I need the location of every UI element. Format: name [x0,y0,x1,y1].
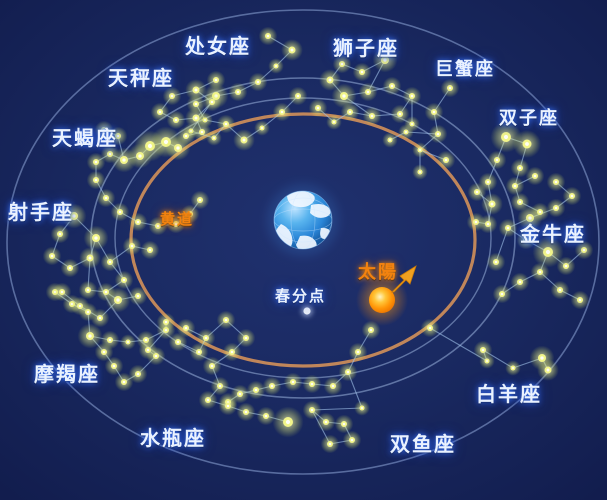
star-core [205,337,208,340]
constellation-label-libra: 天秤座 [108,62,174,91]
star-core [257,81,260,84]
star-core [429,327,432,330]
constellation-label-scorpius: 天蝎座 [52,122,118,151]
star-core [237,91,240,94]
star-core [357,351,360,354]
star-core [411,123,413,125]
star-core [571,195,574,198]
star-core [547,369,550,372]
star-core [507,227,510,230]
star-core [311,383,314,386]
star-core [175,119,178,122]
star-core [292,381,295,384]
star-core [149,249,152,252]
star-core [329,79,332,82]
star-core [195,89,198,92]
star-core [225,319,228,322]
star-core [311,409,314,412]
star-core [195,103,198,106]
constellation-label-aquarius: 水瓶座 [140,422,206,451]
star-core [449,87,452,90]
star-core [433,111,436,114]
star-core [69,267,72,270]
star-core [347,371,350,374]
star-core [99,317,102,320]
star-core [370,329,373,332]
star-core [271,385,274,388]
ecliptic-label: 黄道 [160,208,194,229]
star-core [555,181,558,184]
star-core [79,305,82,308]
star-core [389,139,391,141]
star-core [325,421,328,424]
star-core [411,95,414,98]
star-core [113,365,116,368]
star-core [137,295,140,298]
star-core [419,149,421,151]
star-core [349,111,352,114]
star-core [367,91,370,94]
star-core [419,171,421,173]
star-core [445,159,448,162]
star-core [281,111,284,114]
star-core [519,201,522,204]
star-core [51,255,54,258]
star-core [157,225,160,228]
star-core [137,221,140,224]
star-core [201,131,204,134]
star-core [291,49,294,52]
star-core [405,131,407,133]
star-core [207,399,210,402]
star-core [539,271,542,274]
constellation-label-aries: 白羊座 [476,378,542,407]
star-core [219,385,222,388]
star-core [534,175,537,178]
star-core [138,154,141,157]
star-core [137,373,140,376]
star-core [475,221,478,224]
star-core [519,167,522,170]
star-core [361,71,364,74]
star-core [123,279,126,282]
star-core [297,95,300,98]
star-core [583,249,586,252]
star-core [95,161,98,164]
star-core [275,65,277,67]
star-core [317,107,320,110]
star-core [119,211,122,214]
star-core [486,360,488,362]
star-core [512,367,514,369]
star-core [105,291,108,294]
star-core [476,191,479,194]
star-core [127,341,129,343]
star-core [227,405,230,408]
star-core [332,385,335,388]
star-core [87,289,90,292]
star-core [245,411,248,414]
star-core [487,181,490,184]
star-core [245,337,248,340]
star-core [177,341,180,344]
equinox-label: 春分点 [275,285,326,306]
star-core [351,439,354,442]
star-core [579,299,582,302]
star-core [116,298,119,301]
star-core [159,111,162,114]
star-core [371,115,374,118]
constellation-label-gemini: 双子座 [499,104,559,130]
star-core [286,420,290,424]
star-core [487,223,490,226]
zodiac-diagram: 处女座 狮子座 巨蟹座 双子座 金牛座 白羊座 双鱼座 水瓶座 摩羯座 射手座 … [0,0,607,500]
star-core [361,407,363,409]
star-core [88,334,91,337]
constellation-label-capricornus: 摩羯座 [34,358,100,387]
star-core [261,127,263,129]
star-core [391,85,394,88]
star-core [109,261,112,264]
star-core [525,142,529,146]
star-core [185,135,188,138]
star-core [243,139,246,142]
star-core [341,63,344,66]
star-core [147,349,150,352]
star-core [501,293,504,296]
star-core [491,203,494,206]
star-core [215,79,218,82]
star-core [546,250,550,254]
earth-globe [267,184,339,256]
star-core [122,158,125,161]
star-core [239,393,242,396]
star-core [565,265,568,268]
star-core [165,321,168,324]
star-core [195,117,198,120]
constellation-label-pisces: 双鱼座 [390,428,456,457]
star-core [109,153,112,156]
star-core [267,35,270,38]
star-core [540,356,543,359]
star-core [171,95,174,98]
constellation-label-leo: 狮子座 [333,32,399,61]
constellation-label-cancer: 巨蟹座 [435,55,495,81]
star-core [555,207,558,210]
star-core [255,389,258,392]
star-core [482,349,485,352]
star-core [329,443,332,446]
star-core [231,351,234,354]
star-core [123,381,126,384]
sun-label: 太陽 [358,258,398,284]
star-core [185,327,188,330]
star-core [514,185,517,188]
star-core [213,137,215,139]
star-core [437,133,440,136]
star-core [176,146,179,149]
star-core [399,113,402,116]
star-core [61,291,64,294]
equinox-marker [301,305,313,317]
sky-canvas [0,0,607,500]
constellation-label-sagittarius: 射手座 [8,196,74,225]
star-core [95,179,98,182]
star-core [495,261,498,264]
star-core [265,415,268,418]
star-core [131,245,134,248]
star-core [199,199,202,202]
constellation-label-virgo: 处女座 [185,30,251,59]
star-core [504,135,508,139]
star-core [211,101,214,104]
star-core [225,123,228,126]
star-core [519,281,522,284]
star-core [333,121,335,123]
star-core [89,257,92,260]
star-core [211,365,214,368]
star-core [94,236,97,239]
star-core [559,289,562,292]
star-core [59,233,62,236]
star-core [342,94,345,97]
star-core [105,197,108,200]
star-core [343,423,346,426]
star-core [109,339,112,342]
constellation-label-taurus: 金牛座 [520,218,586,247]
star-core [103,351,106,354]
star-core [496,159,499,162]
star-core [198,351,201,354]
